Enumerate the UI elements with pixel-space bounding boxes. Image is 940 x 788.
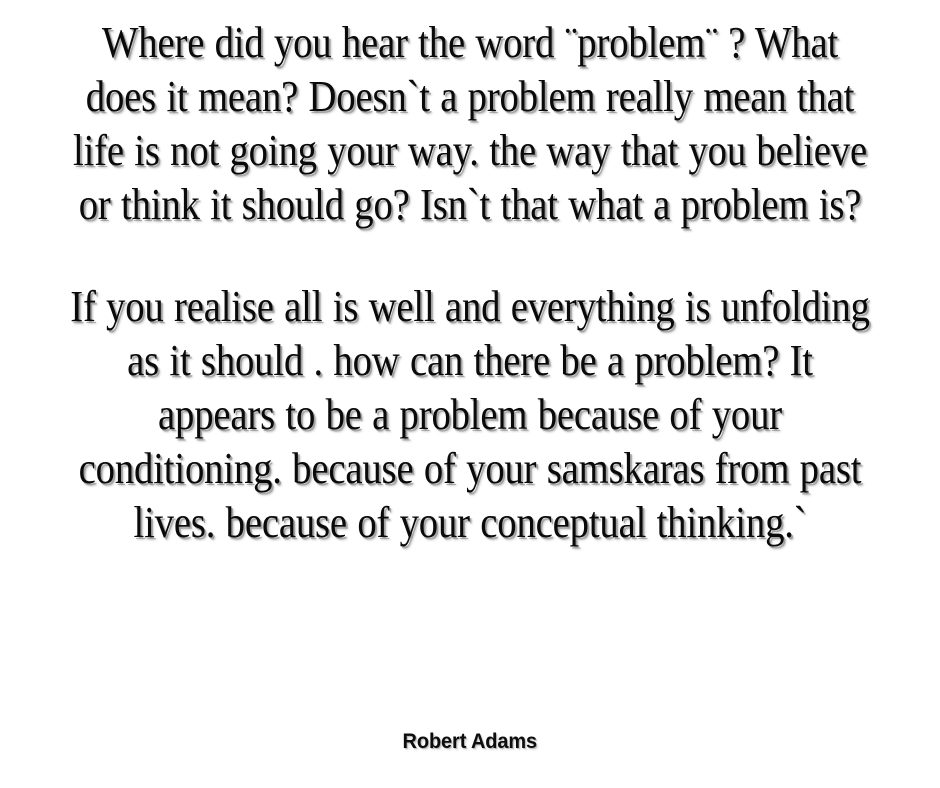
attribution: Robert Adams (0, 729, 940, 755)
quote-paragraph-1: Where did you hear the word ¨problem¨ ? … (69, 16, 872, 232)
quote-text-block: Where did you hear the word ¨problem¨ ? … (0, 16, 940, 550)
quote-paragraph-2: If you realise all is well and everythin… (69, 280, 872, 550)
attribution-author-name: Robert Adams (403, 729, 537, 755)
quote-card: Where did you hear the word ¨problem¨ ? … (0, 0, 940, 788)
